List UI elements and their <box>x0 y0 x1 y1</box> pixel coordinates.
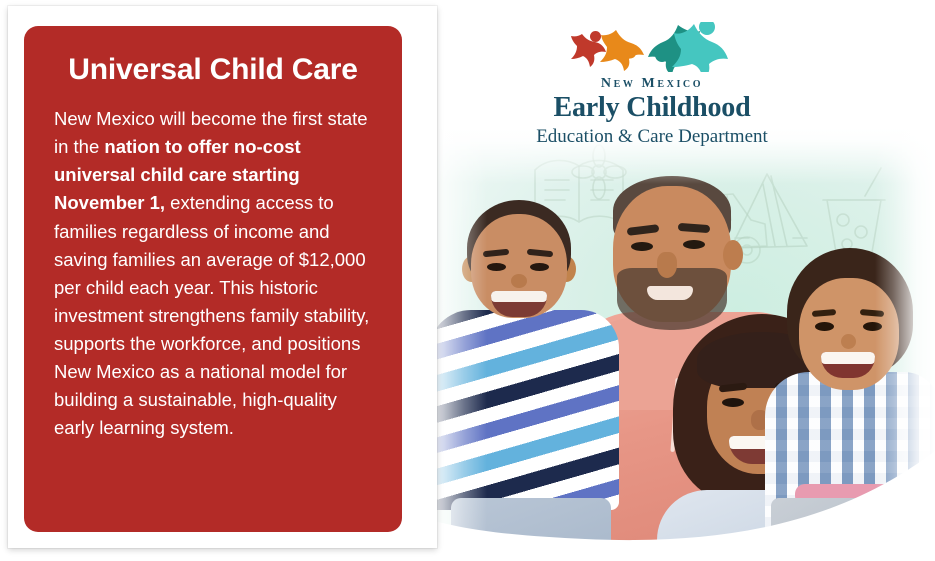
man-eye-left <box>631 242 653 251</box>
girl-teeth <box>821 352 875 364</box>
boy-eye-right <box>530 263 549 271</box>
girl-nose <box>841 334 856 349</box>
universal-child-care-card: Universal Child Care New Mexico will bec… <box>24 26 402 532</box>
logo-figures-group <box>487 22 817 72</box>
body-text-part2: extending access to families regardless … <box>54 192 369 438</box>
photo-fade-bottom <box>415 441 935 561</box>
boy-eye-left <box>487 263 506 271</box>
man-ear <box>723 240 743 270</box>
man-nose <box>657 252 677 278</box>
card-heading: Universal Child Care <box>54 52 372 87</box>
logo-sub-line: Education & Care Department <box>487 125 817 150</box>
man-eye-right <box>683 240 705 249</box>
card-body-text: New Mexico will become the first state i… <box>54 105 372 442</box>
photo-stage <box>415 128 935 561</box>
logo-state-line: New Mexico <box>487 76 817 91</box>
boy-nose <box>511 274 527 288</box>
figure-orange <box>600 30 644 71</box>
girl-eye-left <box>815 322 834 331</box>
man-mouth <box>647 286 693 300</box>
family-photo-panel <box>415 128 935 561</box>
nmecec-logo: New Mexico Early Childhood Education & C… <box>487 22 817 149</box>
boy-teeth <box>491 291 547 302</box>
woman-eye-left <box>722 398 744 407</box>
logo-main-line: Early Childhood <box>487 92 817 123</box>
